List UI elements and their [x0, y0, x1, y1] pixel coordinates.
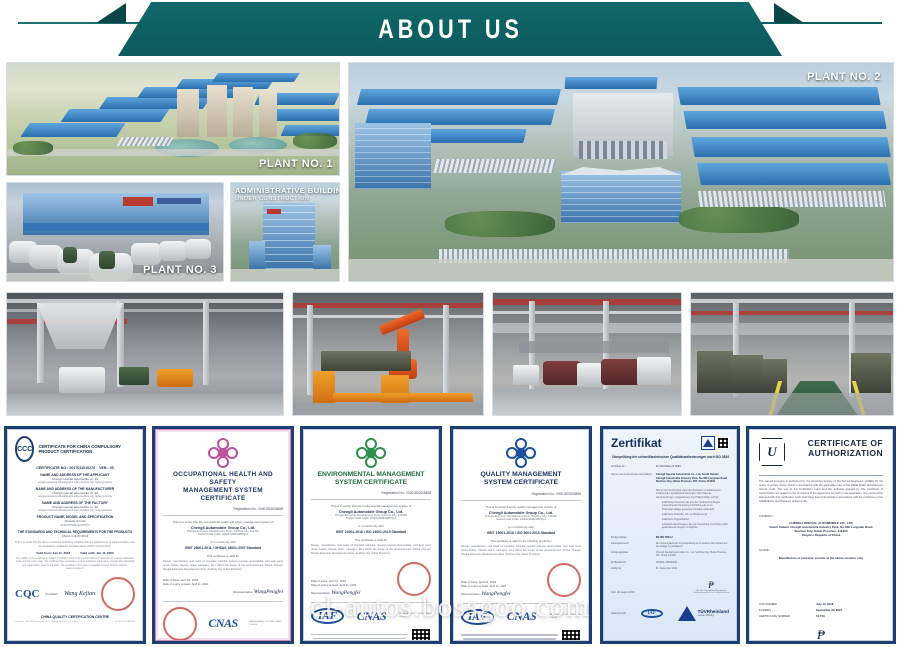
manufacturer-address: songta economic development zone,suizhou… [15, 495, 135, 498]
zertifikat-nr-value: 01 202 D/De-15 0063 [656, 465, 729, 468]
hersteller-value: Chengli Special Automobile Co., Ltd. Sou… [656, 473, 729, 484]
certificate-content: CCC CERTIFICATE FOR CHINA COMPULSORY PRO… [7, 429, 143, 641]
red-seal-stamp [101, 577, 135, 611]
tuv-rheinland-icon [678, 606, 696, 621]
cqm-flower-logo-icon [356, 438, 386, 468]
president-signature: Wang Kejian [64, 591, 95, 597]
expiry-date-value: April 11, 2021 [339, 583, 356, 587]
certificate-title: QUALITY MANAGEMENT [461, 471, 581, 479]
qr-code-icon [411, 628, 431, 641]
signatory-signature: ₱ [693, 580, 729, 590]
company-address-3: People's Republic of China [759, 533, 883, 537]
issuer-tel: Tel: 86-10-83886260 [115, 621, 135, 623]
certificate-intro: This is to certify that the occupational… [163, 520, 283, 524]
certificate-content: ENVIRONMENTAL MANAGEMENT SYSTEM CERTIFIC… [303, 429, 439, 641]
credit-code-value: 91421000MA4BPQ1J [370, 517, 396, 520]
conformity-label: is in conformity with [311, 524, 431, 528]
certificate-title-line2: SYSTEM CERTIFICATE [461, 479, 581, 487]
tuv-mark-icon [701, 436, 715, 450]
factory-address: songta economic development zone,suizhou… [15, 509, 135, 512]
signatory-role: Zertifizierungsstelle für Schweißtechnik [693, 592, 729, 594]
certificate-title: ENVIRONMENTAL MANAGEMENT [311, 471, 431, 479]
cnas-logo: CNAS [357, 609, 386, 624]
fertigungsstaette-label: Fertigungsstätte: [611, 551, 656, 557]
registration-value: 00001802006898 [406, 491, 431, 495]
cqc-logo: CQC [15, 588, 39, 600]
plant-no-1-caption: PLANT NO. 1 [259, 158, 333, 170]
welding-robot-hall-photo[interactable] [292, 292, 484, 416]
valid-from-label: Valid from: [36, 551, 52, 555]
certificate-content: Zertifikat Überprüfung der schweißtechni… [603, 429, 737, 641]
certificate-no-value: 2017011010270 [69, 466, 95, 470]
pruefbericht-label: Prüfbericht-Nr.: [611, 561, 656, 564]
certificate-environmental-management[interactable]: ENVIRONMENTAL MANAGEMENT SYSTEM CERTIFIC… [300, 426, 442, 644]
iaf-logo: IAF [311, 608, 344, 624]
certificate-intro: This is to certify that the quality mana… [461, 505, 581, 509]
certificate-number-value: 54,723 [816, 614, 825, 618]
representative-signature: WangPengfei [331, 590, 360, 596]
plant-no-2-caption: PLANT NO. 2 [807, 71, 881, 83]
tuv-website: www.tuv.com [611, 612, 626, 615]
iaf-logo: IAF [641, 609, 664, 618]
pruefbericht-value: CHN/DL-150320001 [656, 561, 729, 564]
machining-workshop-hall-photo[interactable] [690, 292, 894, 416]
credit-code-value: 91421000MA4BPQ1J [222, 533, 248, 536]
scope-intro: This certificate is valid for the follow… [461, 539, 581, 543]
red-seal-stamp [547, 563, 581, 597]
representative-label: Representative: [311, 591, 331, 595]
ccc-mark-icon: CCC [15, 436, 34, 462]
product-model: CLW-5070XLJHYP5TO [15, 523, 135, 527]
conformity-label: is in conformity with [461, 525, 581, 529]
applicant-address: songta economic development zone,suizhou… [15, 481, 135, 484]
tuv-logo-subtext: Genau. Richtig. [698, 614, 729, 617]
geltungsbereich-value: Der Geltungsbereich der Dasprüfung ist i… [656, 542, 729, 548]
qr-code-icon [561, 629, 581, 641]
plant-gallery-row: PLANT NO. 1 PLANT NO. 3 ADMINISTRATIVE B… [0, 58, 900, 286]
administrative-building-photo[interactable]: ADMINISTRATIVE BUILDING UNDER CONSTRUCTI… [230, 182, 340, 282]
scope-label: SCOPE: [759, 548, 883, 552]
certificate-ccc-compulsory-product[interactable]: CCC CERTIFICATE FOR CHINA COMPULSORY PRO… [4, 426, 146, 644]
red-seal-stamp [397, 562, 431, 596]
bullet-item: qualifiziertes Personal, das eine den Te… [662, 502, 729, 512]
administrative-building-caption: ADMINISTRATIVE BUILDING [235, 186, 340, 195]
expires-value: September 30, 2021 [816, 608, 842, 612]
credit-code-label: Social Credit Code: [346, 517, 369, 520]
president-label: President [45, 592, 58, 596]
certificate-title-line2: AUTHORIZATION [808, 448, 883, 458]
footnote-lines [461, 632, 558, 641]
certificate-body: Hiermit wird bescheinigt, dass der Herst… [656, 489, 729, 499]
plant-no-1-photo[interactable]: PLANT NO. 1 [6, 62, 340, 176]
gueltig-bis-value: 01. September 2021 [656, 567, 729, 570]
registration-value: 00001902006898 [258, 507, 283, 511]
cqm-flower-logo-icon [506, 438, 536, 468]
conformity-label: is in conformity with [163, 540, 283, 544]
certificate-title: Zertifikat [611, 436, 662, 450]
page-title: ABOUT US [378, 14, 523, 45]
certificate-subtitle: Überprüfung der schweißtechnischen Quali… [611, 455, 729, 459]
registration-label: Registration No.: [532, 492, 556, 496]
certificate-intro: This is to certify that the environmenta… [311, 504, 431, 508]
cnas-accreditation-sub: MANAGEMENT SYSTEM CNAS C036-M [249, 621, 283, 627]
banner-tail-left [96, 3, 126, 23]
expiry-date-label: Date of expiry at least: [311, 583, 339, 587]
certificate-tuv-zertifikat[interactable]: Zertifikat Überprüfung der schweißtechni… [600, 426, 740, 644]
scope-intro: This certificate is valid for [163, 554, 283, 558]
issuer-address: Section 9 , No. 188 Nansihuan Xi Lu, Bei… [15, 621, 78, 623]
authorized-value: July 13, 2018 [816, 602, 833, 606]
iaf-logo: IAF [461, 609, 494, 625]
representative-label: Representative: [234, 590, 254, 594]
expiry-date-label: Date of expiry at least: [163, 582, 191, 586]
workshop-gallery-row: cl-autos.bossgoo.com [0, 286, 900, 422]
bullet-item: qualifizierte Schweiß-, Löt- und Prüfper… [662, 514, 729, 517]
valid-until-label: Valid until: [80, 551, 95, 555]
authorized-label: AUTHORIZED [759, 602, 816, 606]
red-seal-stamp [163, 607, 197, 641]
certificate-ver-label: VER.: [99, 466, 109, 470]
standard-value: GB/T 28001-2011 / OHSAS 18001:2007 Stand… [163, 546, 283, 550]
bullet-item: qualifizierte Fügeverfahren [662, 519, 729, 522]
valid-from-value: Jan 11, 2018 [53, 551, 71, 555]
place-date: Köln, 08. August 2018 [611, 591, 634, 594]
certificate-title: CERTIFICATE OF [808, 438, 883, 448]
representative-signature: WangPengfei [254, 589, 283, 595]
plant-no-3-caption: PLANT NO. 3 [143, 264, 217, 276]
bullet-item: technische Einrichtungen, die eine Herst… [662, 524, 729, 530]
certificate-no-label: CERTIFICATE NO.: [36, 466, 68, 470]
representative-signature: WangPengfei [481, 591, 510, 597]
banner-ribbon: ABOUT US [118, 2, 782, 56]
tanker-assembly-hall-photo[interactable] [492, 292, 682, 416]
banner-tail-right [774, 3, 804, 23]
certificate-title: OCCUPATIONAL HEALTH AND SAFETY [163, 471, 283, 487]
certificate-asme-authorization[interactable]: U CERTIFICATE OF AUTHORIZATION The named… [746, 426, 896, 644]
certificate-occupational-health-safety[interactable]: OCCUPATIONAL HEALTH AND SAFETY MANAGEMEN… [152, 426, 294, 644]
geltungsbereich-label: Geltungsbereich: [611, 542, 656, 548]
expires-label: EXPIRES [759, 608, 816, 612]
certificate-content: QUALITY MANAGEMENT SYSTEM CERTIFICATE Re… [453, 429, 589, 641]
standards-value: CNCA-C11-01:2014 [15, 534, 135, 538]
registration-label: Registration No.: [234, 507, 258, 511]
scope-text: Manufacture of pressure vessels at the a… [759, 556, 883, 560]
qr-code-icon [717, 437, 729, 449]
certificate-number-label: CERTIFICATE NUMBER [759, 614, 816, 618]
certificate-paragraph: This is to certify that the above mentio… [15, 541, 135, 548]
administrative-building-subcaption: UNDER CONSTRUCTION [235, 196, 309, 202]
about-us-banner: ABOUT US [0, 0, 900, 58]
cqm-flower-logo-icon [208, 438, 238, 468]
footnote-lines [311, 631, 408, 641]
asme-mark-icon: U [759, 438, 785, 466]
registration-label: Registration No.: [382, 491, 406, 495]
cnas-logo: CNAS [208, 616, 237, 631]
expiry-date-label: Date of expiry at least: [461, 584, 489, 588]
pruefgrundlage-value: EN ISO 3834-2 [656, 536, 729, 539]
company-label: COMPANY: [759, 514, 883, 518]
board-chair-signature: ₱ [759, 627, 883, 641]
standard-value: GB/T 19001-2016 / ISO 9001:2015 Standard [461, 531, 581, 535]
credit-code-label: Social Credit Code: [198, 533, 221, 536]
scope-intro: This certificate is valid for [311, 538, 431, 542]
credit-code-value: 91421000MA4BPQ1J [520, 518, 546, 521]
hersteller-label: Name und Anschrift des Herstellers: [611, 473, 656, 484]
valid-until-value: Jan 11, 2023 [96, 551, 114, 555]
scope-text: Design, manufacture, and sales of comple… [461, 545, 581, 557]
certificate-ver-value: 00 [110, 466, 114, 470]
credit-code-label: Social Credit Code: [496, 518, 519, 521]
certificate-title-line2: SYSTEM CERTIFICATE [311, 479, 431, 487]
certificate-content: OCCUPATIONAL HEALTH AND SAFETY MANAGEMEN… [155, 429, 291, 641]
scope-text: Design, manufacture, and sales of comple… [311, 544, 431, 556]
plant-no-3-photo[interactable]: PLANT NO. 3 [6, 182, 224, 282]
gueltig-bis-label: Gültig bis: [611, 567, 656, 570]
representative-label: Representative: [461, 592, 481, 596]
expiry-date-value: April 11, 2021 [489, 584, 506, 588]
assembly-line-hall-photo[interactable] [6, 292, 284, 416]
plant-no-2-photo[interactable]: PLANT NO. 2 [348, 62, 894, 282]
certificate-content: U CERTIFICATE OF AUTHORIZATION The named… [749, 429, 893, 641]
standard-value: GB/T 24001-2016 / ISO 14001:2015 Standar… [311, 530, 431, 534]
scope-text: Design, manufacture, and sales of comple… [163, 560, 283, 572]
expiry-date-value: April 11, 2021 [191, 582, 208, 586]
certificate-title: CERTIFICATE FOR CHINA COMPULSORY PRODUCT… [38, 444, 135, 454]
cnas-accreditation-sub: MANAGEMENT SYSTEM CNAS C036-M [549, 614, 581, 620]
certificate-title-line2: MANAGEMENT SYSTEM CERTIFICATE [163, 487, 283, 503]
registration-value: 00001802006898 [556, 492, 581, 496]
pruefgrundlage-label: Prüfgrundlage: [611, 536, 656, 539]
certificate-notes: The validity of the certificate is subje… [15, 557, 135, 570]
cnas-accreditation-sub: MANAGEMENT SYSTEM CNAS C036-M [399, 613, 431, 619]
cnas-logo: CNAS [507, 609, 536, 624]
certificate-quality-management[interactable]: QUALITY MANAGEMENT SYSTEM CERTIFICATE Re… [450, 426, 592, 644]
fertigungsstaette-value: Chengli Special Automobile Co., Ltd. Sui… [656, 551, 729, 557]
certificate-paragraph: The named company is authorized by the A… [759, 480, 883, 504]
issuing-org: CHINA QUALITY CERTIFICATION CENTRE [15, 615, 135, 619]
certificate-gallery-row: CCC CERTIFICATE FOR CHINA COMPULSORY PRO… [0, 422, 900, 647]
zertifikat-nr-label: Zertifikat-Nr.: [611, 465, 656, 468]
